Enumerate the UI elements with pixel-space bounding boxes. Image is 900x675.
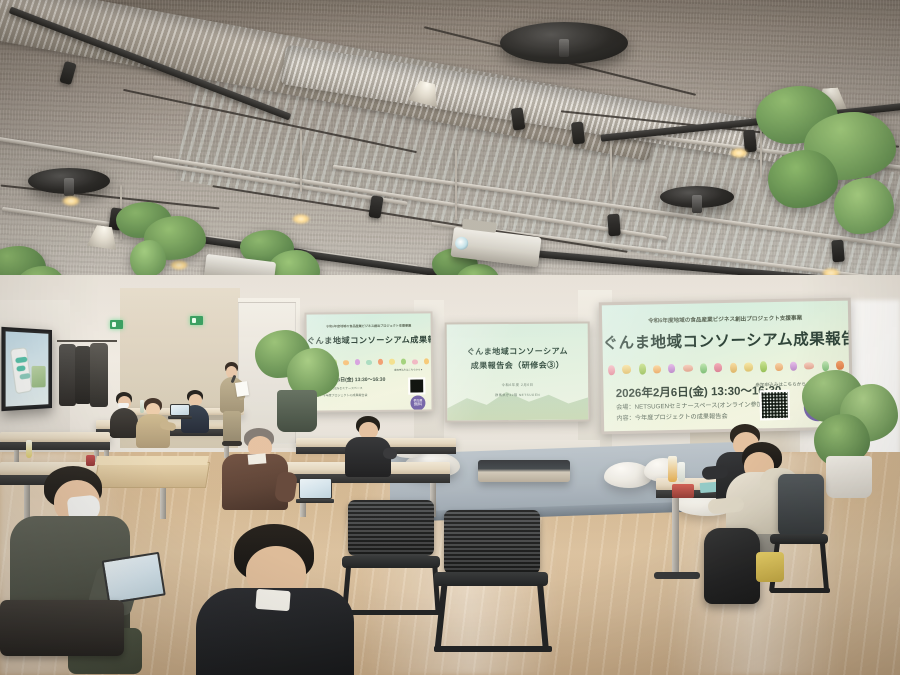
- center-poster-line1: ぐんま地域コンソーシアム: [447, 346, 588, 358]
- hanging-plant-icon: [746, 86, 900, 238]
- projector-lens-icon: [454, 236, 468, 250]
- laptop-base: [296, 499, 334, 503]
- laptop[interactable]: [168, 404, 192, 420]
- chair-seat: [434, 572, 548, 586]
- potted-plant: [255, 330, 341, 436]
- yellow-tote-bag: [756, 552, 784, 582]
- chair-backrest: [348, 500, 434, 556]
- food-icon: [622, 365, 631, 374]
- chair-base-rail: [342, 610, 442, 615]
- exit-sign-icon: [110, 320, 123, 329]
- food-icon: [700, 363, 707, 373]
- main-poster-qr-area: 参加申込みはこちらから▼: [759, 390, 790, 421]
- laptop-screen: [170, 404, 190, 416]
- left-poster-free-badge: 参加費 無料: [410, 395, 425, 410]
- disc-light-icon: [28, 168, 110, 194]
- disc-light-icon: [660, 186, 734, 208]
- laptop-base: [168, 416, 192, 419]
- smartphone-mockup-icon: [10, 348, 32, 396]
- center-poster-line2: 成果報告会（研修会③）: [447, 360, 588, 372]
- drink-bottle: [668, 456, 677, 482]
- food-icon: [775, 362, 783, 370]
- food-icon: [760, 361, 767, 372]
- drink-bottle: [26, 440, 32, 458]
- audience-front-center: [196, 524, 356, 675]
- disc-light-icon: [500, 22, 628, 64]
- food-icon: [730, 362, 737, 372]
- spotlight-icon: [571, 121, 585, 144]
- main-poster-venue: 会場：NETSUGENセミナースペース(オンライン参加可能): [616, 399, 777, 411]
- food-icon: [744, 362, 753, 371]
- coat-rack-bar: [57, 340, 117, 342]
- collar: [248, 453, 267, 465]
- food-icon: [412, 359, 418, 364]
- chair-front-left[interactable]: [0, 600, 130, 675]
- seminar-room-photo: 令和6年度地域の食品産業ビジネス創出プロジェクト支援事業 ぐんま地域コンソーシア…: [0, 0, 900, 675]
- coat-icon: [75, 346, 91, 404]
- chair-leg: [537, 584, 549, 650]
- chair-backrest: [444, 510, 540, 574]
- display-map-thumbnail: [32, 366, 46, 388]
- food-icon: [608, 365, 615, 375]
- food-icon: [804, 362, 814, 369]
- backpack: [704, 528, 760, 604]
- food-icon: [401, 359, 406, 365]
- food-icon: [355, 359, 360, 365]
- table-leg: [672, 498, 679, 576]
- qr-code-icon[interactable]: [759, 390, 790, 421]
- table-leg: [160, 485, 166, 519]
- condiment-caddy: [672, 484, 694, 498]
- food-icon: [343, 360, 349, 365]
- shirt-collar: [255, 589, 290, 611]
- badge-bottom-label: 無料: [414, 402, 422, 406]
- audience-right-navy: [342, 416, 394, 480]
- food-icon: [423, 358, 428, 364]
- food-icon: [389, 359, 395, 365]
- coat-icon: [90, 343, 108, 407]
- chat-bubble-icon: [15, 357, 27, 364]
- center-projection-screen: ぐんま地域コンソーシアム 成果報告会（研修会③） 令和6年度 2月6日 群馬県庁…: [445, 321, 591, 422]
- left-poster-qr-caption: 参加申込みはこちらから▼: [394, 367, 423, 371]
- food-icon: [378, 359, 383, 365]
- ceiling-hanger-rod: [610, 140, 612, 200]
- laptop-screen: [299, 478, 332, 499]
- seminar-table: [0, 432, 110, 442]
- center-poster-sub1: 令和6年度 2月6日: [447, 382, 588, 388]
- food-icon: [790, 362, 797, 371]
- food-icon: [683, 365, 693, 372]
- chair-base-rail: [434, 646, 552, 652]
- display-screen-content: [6, 331, 49, 406]
- main-poster-headline: ぐんま地域コンソーシアム成果報告会: [602, 327, 848, 354]
- coat-icon: [59, 344, 76, 406]
- food-icon: [836, 361, 844, 370]
- chair-backrest: [778, 474, 824, 536]
- presenter-paper: [235, 381, 249, 397]
- torso: [136, 414, 170, 448]
- food-icon: [668, 364, 675, 373]
- plant-pot: [277, 390, 317, 432]
- main-poster-kicker: 令和6年度地域の食品産業ビジネス創出プロジェクト支援事業: [602, 313, 848, 326]
- table-skirt: [0, 442, 110, 450]
- light-glow: [292, 214, 310, 224]
- chair-seat: [342, 556, 440, 568]
- chat-bubble-icon: [16, 366, 26, 373]
- drink-bottle: [140, 400, 144, 413]
- industrial-ceiling: [0, 0, 900, 300]
- chair-base-rail: [770, 588, 830, 593]
- spotlight-icon: [607, 214, 621, 237]
- ceiling-hanger-rod: [455, 150, 457, 220]
- center-poster-sub2: 群馬県庁32階 NETSUGEN: [447, 392, 588, 398]
- laptop[interactable]: [296, 478, 334, 504]
- table-foot: [654, 572, 700, 579]
- chair-leg: [820, 542, 829, 592]
- food-icon: [714, 363, 722, 372]
- arm: [274, 471, 298, 503]
- plant-pot: [826, 456, 872, 498]
- main-poster-content: 内容：今年度プロジェクトの成果報告会: [616, 411, 728, 422]
- food-icon: [653, 365, 661, 373]
- drink-bottle: [86, 455, 95, 466]
- qr-code-icon[interactable]: [408, 377, 425, 394]
- left-poster-kicker: 令和6年度地域の食品産業ビジネス創出プロジェクト支援事業: [307, 322, 431, 328]
- food-icon: [639, 364, 646, 375]
- chair-backrest: [0, 600, 124, 656]
- hanging-plant-icon: [110, 196, 220, 282]
- ceiling-hanger-rod: [300, 130, 302, 192]
- wall-display-monitor[interactable]: [1, 327, 52, 411]
- exit-sign-icon: [190, 316, 203, 325]
- center-poster: ぐんま地域コンソーシアム 成果報告会（研修会③） 令和6年度 2月6日 群馬県庁…: [447, 324, 589, 421]
- audience-brown-jacket: [222, 428, 296, 524]
- light-glow: [62, 196, 80, 206]
- spotlight-icon: [831, 240, 845, 263]
- chair-foreground[interactable]: [430, 510, 556, 660]
- food-icon: [366, 359, 372, 364]
- chat-bubble-icon: [19, 373, 30, 380]
- chair-leg: [435, 584, 448, 650]
- drink-bottle: [678, 462, 685, 482]
- lounge-bench: [478, 460, 570, 482]
- left-poster-qr-area: 参加申込みはこちらから▼: [408, 377, 425, 394]
- cardboard-box-flap: [95, 456, 209, 465]
- tablet-screen: [102, 552, 166, 605]
